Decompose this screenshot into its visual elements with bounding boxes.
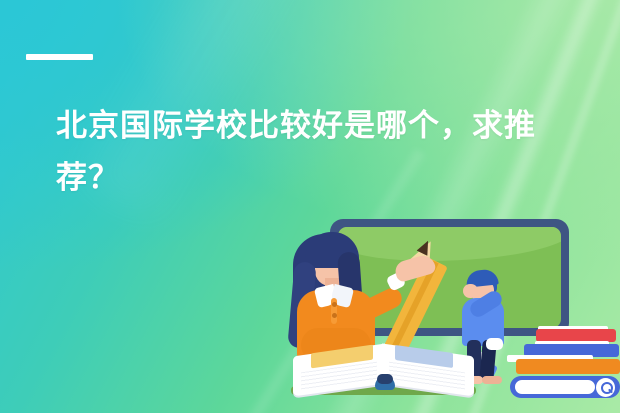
search-input[interactable] (515, 380, 595, 394)
blackboard-highlight (338, 227, 561, 261)
education-illustration (283, 210, 620, 413)
student-shoe-right (482, 376, 502, 384)
accent-rule (26, 54, 93, 60)
teacher-button-upper (332, 302, 337, 307)
student-hand (463, 284, 478, 298)
teacher-button-lower (332, 313, 337, 318)
article-cover-card: 北京国际学校比较好是哪个，求推荐？ (0, 0, 620, 413)
page-title: 北京国际学校比较好是哪个，求推荐？ (56, 100, 576, 204)
student-shirt-hem (486, 338, 503, 350)
open-book-spine-inner (377, 374, 393, 384)
book-bottom (516, 359, 620, 374)
